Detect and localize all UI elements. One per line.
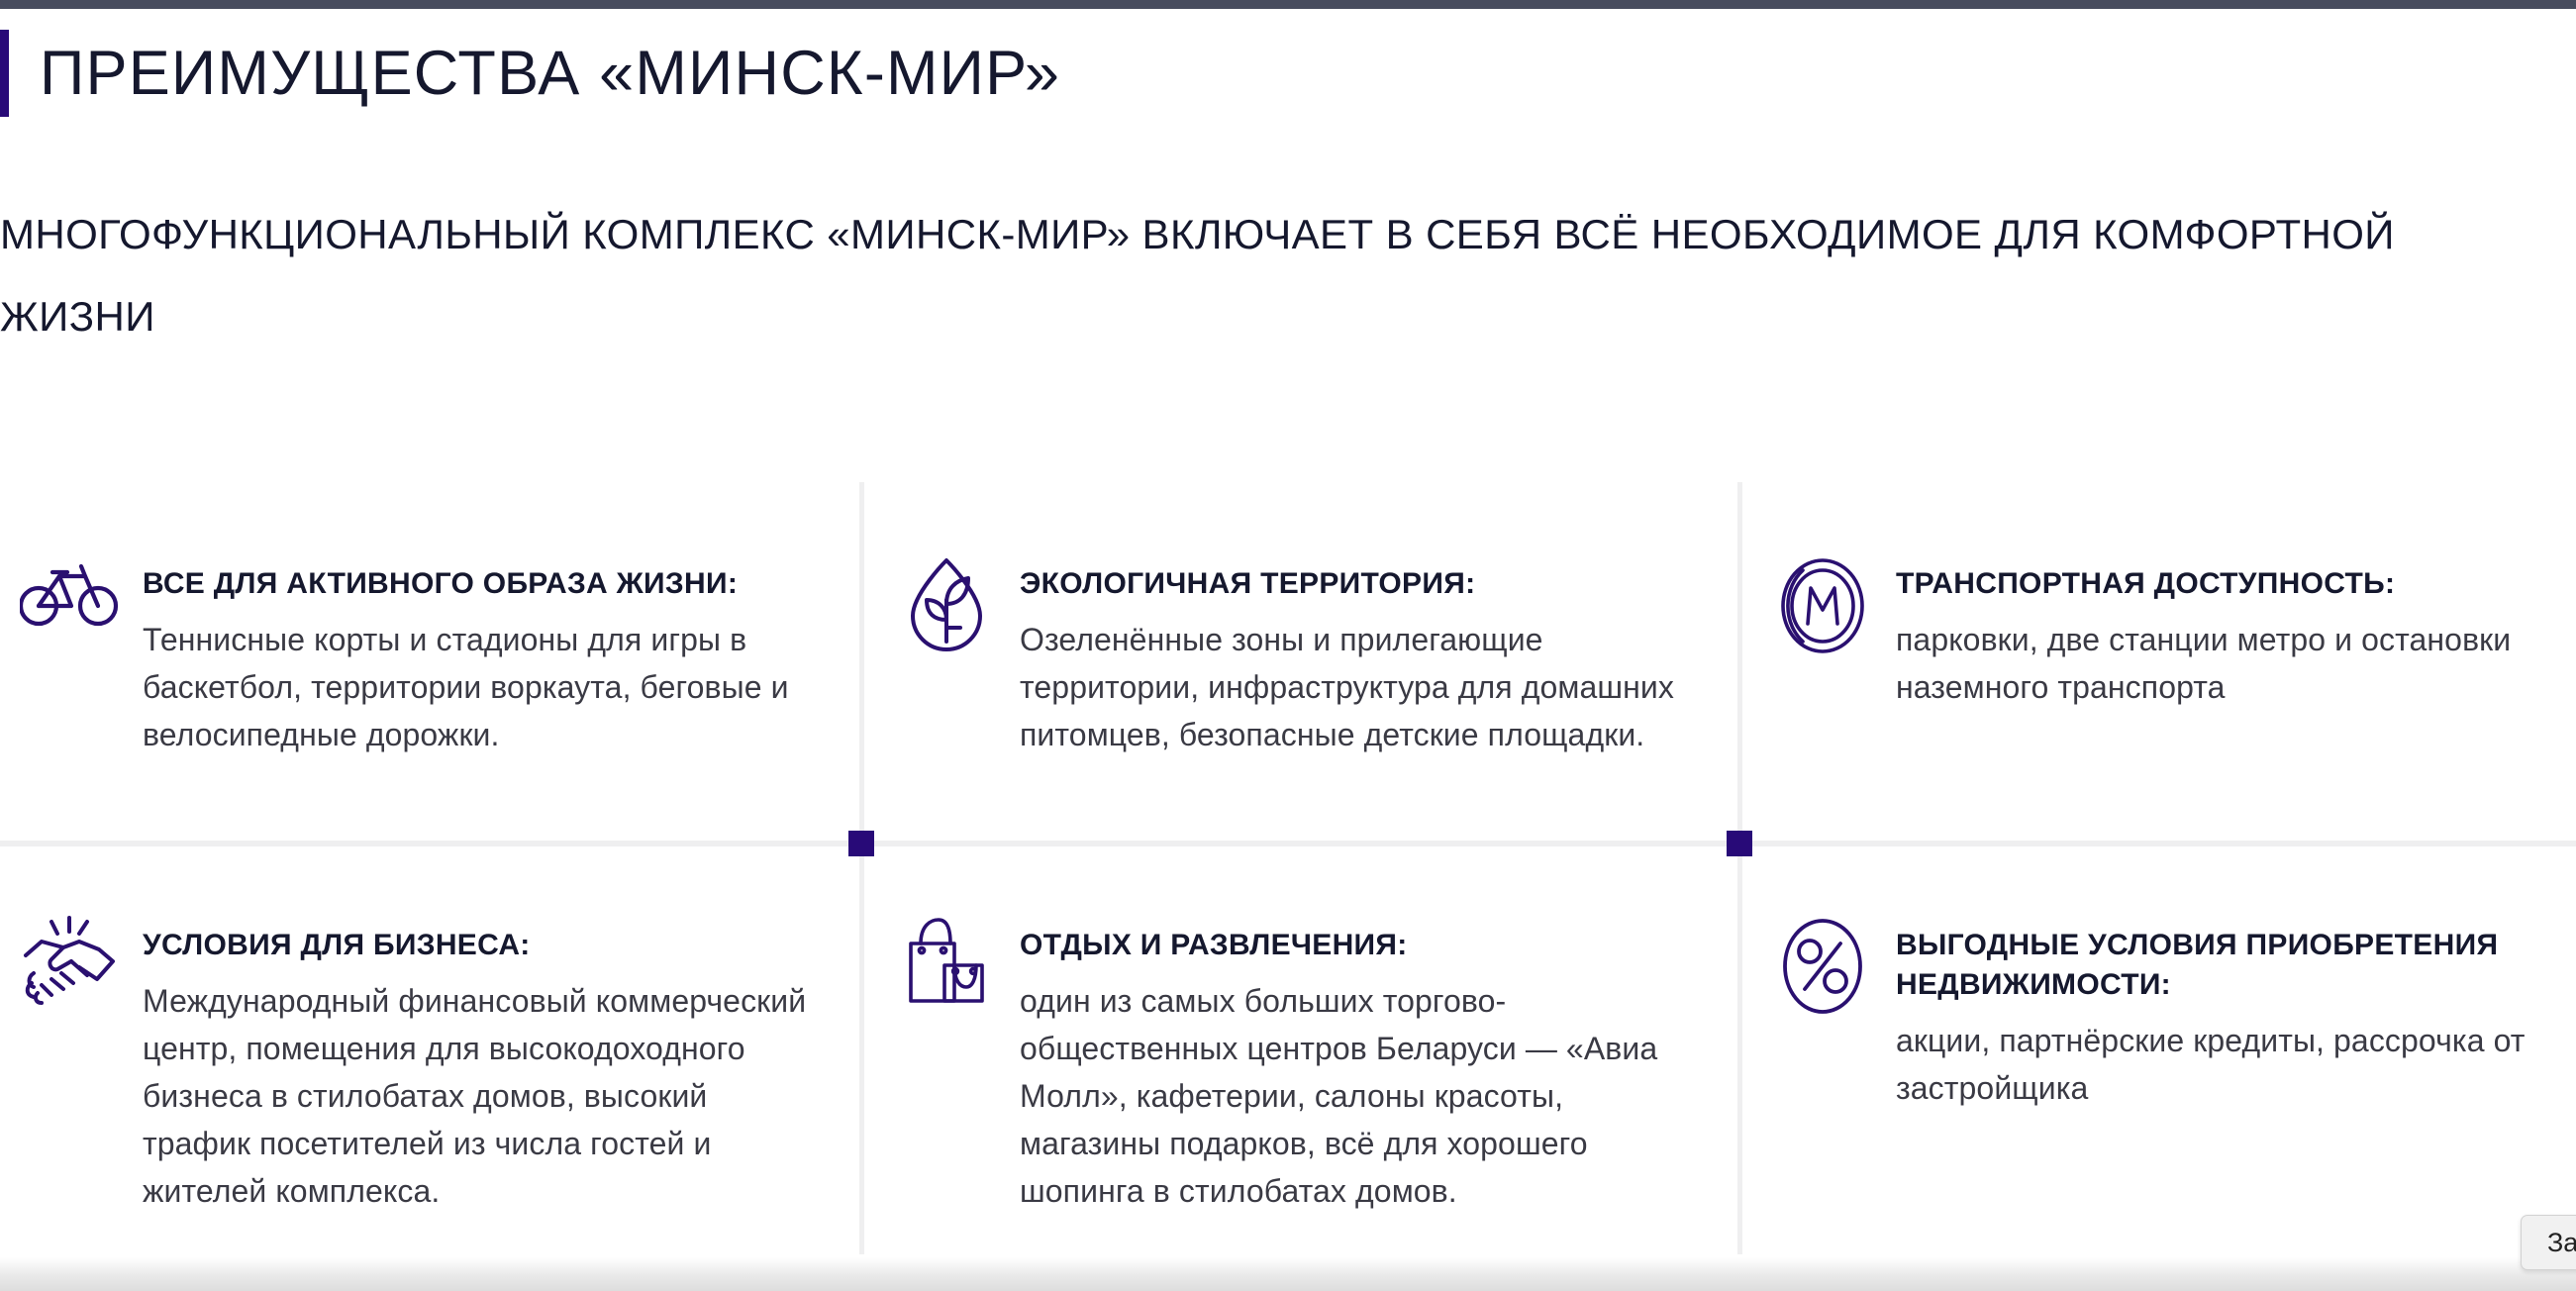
grid-marker-square-2 [1727,831,1752,856]
percent-icon [1767,916,1878,1027]
card-title: ОТДЫХ И РАЗВЛЕЧЕНИЯ: [1020,926,1683,965]
feature-card-leisure: ОТДЫХ И РАЗВЛЕЧЕНИЯ: один из самых больш… [891,916,1683,1215]
eco-leaf-droplet-icon [891,554,1002,665]
card-body: ТРАНСПОРТНАЯ ДОСТУПНОСТЬ: парковки, две … [1896,554,2559,711]
grid-marker-square-1 [848,831,874,856]
feature-card-eco-territory: ЭКОЛОГИЧНАЯ ТЕРРИТОРИЯ: Озеленённые зоны… [891,554,1683,758]
feature-card-purchase-terms: ВЫГОДНЫЕ УСЛОВИЯ ПРИОБРЕТЕНИЯ НЕДВИЖИМОС… [1767,916,2559,1112]
top-chrome-strip [0,0,2576,9]
card-text: парковки, две станции метро и остановки … [1896,616,2559,711]
card-title: ТРАНСПОРТНАЯ ДОСТУПНОСТЬ: [1896,564,2559,604]
card-body: ВЫГОДНЫЕ УСЛОВИЯ ПРИОБРЕТЕНИЯ НЕДВИЖИМОС… [1896,916,2559,1112]
bicycle-icon [14,554,125,665]
page-root: ПРЕИМУЩЕСТВА «МИНСК-МИР» МНОГОФУНКЦИОНАЛ… [0,0,2576,1291]
handshake-icon [14,916,125,1027]
floating-corner-button[interactable]: Зап [2521,1215,2576,1270]
title-accent-bar [0,30,9,117]
floating-corner-button-label: Зап [2547,1228,2576,1258]
card-title: ВЫГОДНЫЕ УСЛОВИЯ ПРИОБРЕТЕНИЯ НЕДВИЖИМОС… [1896,926,2559,1005]
grid-divider-vertical-1 [859,482,864,1254]
card-title: УСЛОВИЯ ДЛЯ БИЗНЕСА: [143,926,816,965]
card-body: ВСЕ ДЛЯ АКТИВНОГО ОБРАЗА ЖИЗНИ: Теннисны… [143,554,816,758]
bottom-gradient-band [0,1257,2576,1291]
card-body: ОТДЫХ И РАЗВЛЕЧЕНИЯ: один из самых больш… [1020,916,1683,1215]
grid-divider-horizontal [0,841,2576,846]
card-text: один из самых больших торгово-общественн… [1020,977,1683,1215]
page-title: ПРЕИМУЩЕСТВА «МИНСК-МИР» [40,30,1060,117]
page-subtitle: МНОГОФУНКЦИОНАЛЬНЫЙ КОМПЛЕКС «МИНСК-МИР»… [0,193,2554,357]
metro-icon [1767,554,1878,665]
card-body: ЭКОЛОГИЧНАЯ ТЕРРИТОРИЯ: Озеленённые зоны… [1020,554,1683,758]
card-title: ЭКОЛОГИЧНАЯ ТЕРРИТОРИЯ: [1020,564,1683,604]
card-text: Теннисные корты и стадионы для игры в ба… [143,616,816,758]
feature-card-transport: ТРАНСПОРТНАЯ ДОСТУПНОСТЬ: парковки, две … [1767,554,2559,711]
feature-card-business: УСЛОВИЯ ДЛЯ БИЗНЕСА: Международный финан… [14,916,816,1215]
card-text: акции, партнёрские кредиты, рассрочка от… [1896,1017,2559,1112]
card-text: Международный финансовый коммерческий це… [143,977,816,1215]
card-body: УСЛОВИЯ ДЛЯ БИЗНЕСА: Международный финан… [143,916,816,1215]
feature-card-active-lifestyle: ВСЕ ДЛЯ АКТИВНОГО ОБРАЗА ЖИЗНИ: Теннисны… [14,554,816,758]
grid-divider-vertical-2 [1737,482,1742,1254]
card-text: Озеленённые зоны и прилегающие территори… [1020,616,1683,758]
card-title: ВСЕ ДЛЯ АКТИВНОГО ОБРАЗА ЖИЗНИ: [143,564,816,604]
shopping-bags-icon [891,916,1002,1027]
